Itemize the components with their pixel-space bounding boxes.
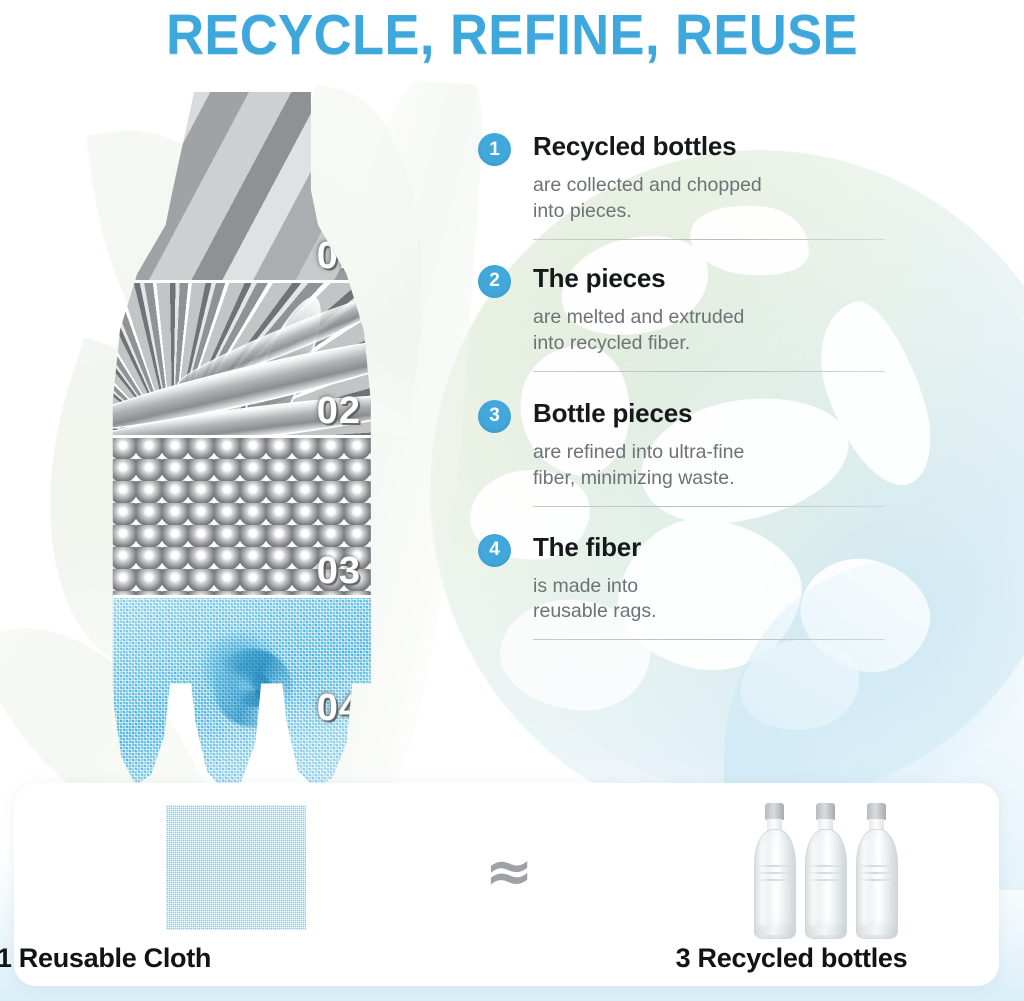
step-number-badge-1: 1 — [478, 133, 511, 166]
bottle-silhouette: 01 02 03 04 — [110, 92, 395, 792]
bottle-base — [858, 926, 894, 935]
bottle-ring — [807, 865, 843, 867]
bottle-ring — [858, 865, 894, 867]
bottle-band-03: 03 — [110, 437, 395, 597]
step-description-line: reusable rags. — [533, 599, 898, 625]
step-description-line: into recycled fiber. — [533, 331, 898, 357]
step-divider — [533, 639, 885, 640]
step-item-4[interactable]: 4 The fiber is made into reusable rags. — [478, 533, 898, 641]
step-item-2[interactable]: 2 The pieces are melted and extruded int… — [478, 264, 898, 372]
bottle-cap-icon — [816, 803, 835, 820]
bottle-band-number: 03 — [317, 550, 361, 593]
bottle-ring — [858, 879, 894, 881]
cloth-label: 1 Reusable Cloth — [0, 943, 314, 974]
bottle-ring — [756, 879, 792, 881]
bottle-body — [805, 829, 847, 939]
bottle-band-04: 04 — [110, 597, 395, 792]
step-divider — [533, 239, 885, 240]
bottle-body — [754, 829, 796, 939]
step-number-badge-3: 3 — [478, 400, 511, 433]
reusable-cloth-swatch — [166, 805, 306, 930]
process-steps-list: 1 Recycled bottles are collected and cho… — [478, 132, 898, 640]
bottle-cap-icon — [867, 803, 886, 820]
step-description-line: are melted and extruded — [533, 305, 898, 331]
bottle-ring — [807, 879, 843, 881]
bottle-band-02: 02 — [110, 282, 395, 437]
bottle-ring — [858, 872, 894, 874]
step-item-3[interactable]: 3 Bottle pieces are refined into ultra-f… — [478, 399, 898, 507]
cloth-column: 1 Reusable Cloth — [14, 783, 434, 986]
recycled-bottles-group — [752, 799, 912, 937]
step-description-line: into pieces. — [533, 199, 898, 225]
step-title: Recycled bottles — [533, 132, 736, 162]
band-separator — [110, 280, 395, 283]
step-divider — [533, 506, 885, 507]
step-description-line: are refined into ultra-fine — [533, 440, 898, 466]
bottle-icon — [854, 803, 898, 937]
step-number-badge-2: 2 — [478, 265, 511, 298]
bottles-column: 3 Recycled bottles — [584, 783, 999, 986]
band-separator — [110, 435, 395, 438]
bottle-base — [807, 926, 843, 935]
step-description: is made into reusable rags. — [533, 574, 898, 626]
band-separator — [110, 595, 395, 598]
page-title-text: RECYCLE, REFINE, REUSE — [166, 7, 858, 64]
step-title: Bottle pieces — [533, 399, 692, 429]
approximately-equal-icon: ≈ — [485, 842, 534, 900]
bottle-base — [756, 926, 792, 935]
step-number-badge-4: 4 — [478, 534, 511, 567]
page-title: RECYCLE, REFINE, REUSE — [0, 0, 1024, 70]
bottle-ring — [756, 865, 792, 867]
step-title: The fiber — [533, 533, 641, 563]
step-description-line: are collected and chopped — [533, 173, 898, 199]
bottle-band-01: 01 — [110, 92, 395, 282]
bottles-label: 3 Recycled bottles — [584, 943, 999, 974]
bottle-band-number: 04 — [317, 687, 361, 730]
step-header: 4 The fiber — [478, 533, 898, 567]
step-divider — [533, 371, 885, 372]
bottle-body — [856, 829, 898, 939]
operator-column: ≈ — [434, 783, 584, 986]
cloth-swirl-core — [238, 673, 272, 707]
step-header: 2 The pieces — [478, 264, 898, 298]
step-description: are refined into ultra-fine fiber, minim… — [533, 440, 898, 492]
bottle-band-number: 01 — [317, 235, 361, 278]
equivalence-card: 1 Reusable Cloth ≈ — [14, 783, 999, 986]
bottle-cap-icon — [765, 803, 784, 820]
bottle-ring — [756, 872, 792, 874]
bottle-ring — [807, 872, 843, 874]
bottle-icon — [803, 803, 847, 937]
recycling-bottle-diagram: 01 02 03 04 — [110, 92, 395, 792]
step-title: The pieces — [533, 264, 665, 294]
bottle-icon — [752, 803, 796, 937]
step-description-line: is made into — [533, 574, 898, 600]
bottle-band-number: 02 — [317, 390, 361, 433]
step-description: are collected and chopped into pieces. — [533, 173, 898, 225]
step-description-line: fiber, minimizing waste. — [533, 466, 898, 492]
step-header: 1 Recycled bottles — [478, 132, 898, 166]
step-description: are melted and extruded into recycled fi… — [533, 305, 898, 357]
step-header: 3 Bottle pieces — [478, 399, 898, 433]
step-item-1[interactable]: 1 Recycled bottles are collected and cho… — [478, 132, 898, 240]
